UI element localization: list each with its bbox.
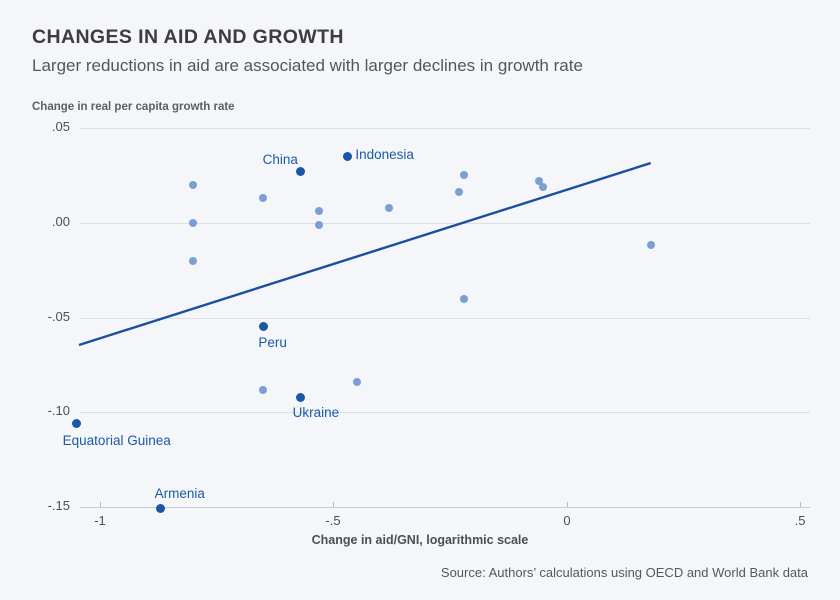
data-point-label: Equatorial Guinea xyxy=(63,433,171,448)
source-note: Source: Authors’ calculations using OECD… xyxy=(441,565,808,580)
data-point[interactable] xyxy=(460,171,468,179)
x-axis-tick-label: 0 xyxy=(547,513,587,528)
y-axis-tick-label: -.05 xyxy=(22,309,70,324)
data-point[interactable] xyxy=(315,221,323,229)
data-point[interactable] xyxy=(385,204,393,212)
data-point[interactable] xyxy=(315,207,323,215)
data-point-label: Indonesia xyxy=(355,147,414,162)
x-axis-tick-label: -.5 xyxy=(313,513,353,528)
y-gridline xyxy=(80,128,810,129)
data-point[interactable] xyxy=(353,378,361,386)
x-axis-label: Change in aid/GNI, logarithmic scale xyxy=(0,533,840,547)
data-point-labeled[interactable] xyxy=(72,419,81,428)
data-point[interactable] xyxy=(189,257,197,265)
data-point[interactable] xyxy=(259,386,267,394)
chart-page: CHANGES IN AID AND GROWTH Larger reducti… xyxy=(0,0,840,600)
data-point[interactable] xyxy=(460,295,468,303)
y-gridline xyxy=(80,412,810,413)
data-point-label: China xyxy=(263,152,298,167)
data-point-labeled[interactable] xyxy=(259,322,268,331)
x-axis-tick-mark xyxy=(100,502,101,507)
x-axis-tick-mark xyxy=(333,502,334,507)
data-point-labeled[interactable] xyxy=(156,504,165,513)
y-axis-tick-label: -.15 xyxy=(22,498,70,513)
data-point[interactable] xyxy=(259,194,267,202)
x-axis-tick-mark xyxy=(567,502,568,507)
y-gridline xyxy=(80,318,810,319)
data-point-labeled[interactable] xyxy=(296,393,305,402)
data-point-label: Peru xyxy=(258,335,287,350)
data-point[interactable] xyxy=(647,241,655,249)
data-point-label: Ukraine xyxy=(293,405,340,420)
y-axis-tick-label: -.10 xyxy=(22,403,70,418)
x-axis-tick-label: .5 xyxy=(780,513,820,528)
y-axis-tick-label: .00 xyxy=(22,214,70,229)
x-axis-tick-label: -1 xyxy=(80,513,120,528)
y-gridline xyxy=(80,507,810,508)
data-point[interactable] xyxy=(539,183,547,191)
trendline xyxy=(0,0,840,600)
x-axis-tick-mark xyxy=(800,502,801,507)
data-point[interactable] xyxy=(455,188,463,196)
data-point-label: Armenia xyxy=(155,486,205,501)
data-point-labeled[interactable] xyxy=(343,152,352,161)
scatter-plot-area: .05.00-.05-.10-.15-1-.50.5ChinaIndonesia… xyxy=(0,0,840,600)
data-point[interactable] xyxy=(189,181,197,189)
data-point-labeled[interactable] xyxy=(296,167,305,176)
y-axis-tick-label: .05 xyxy=(22,119,70,134)
data-point[interactable] xyxy=(189,219,197,227)
